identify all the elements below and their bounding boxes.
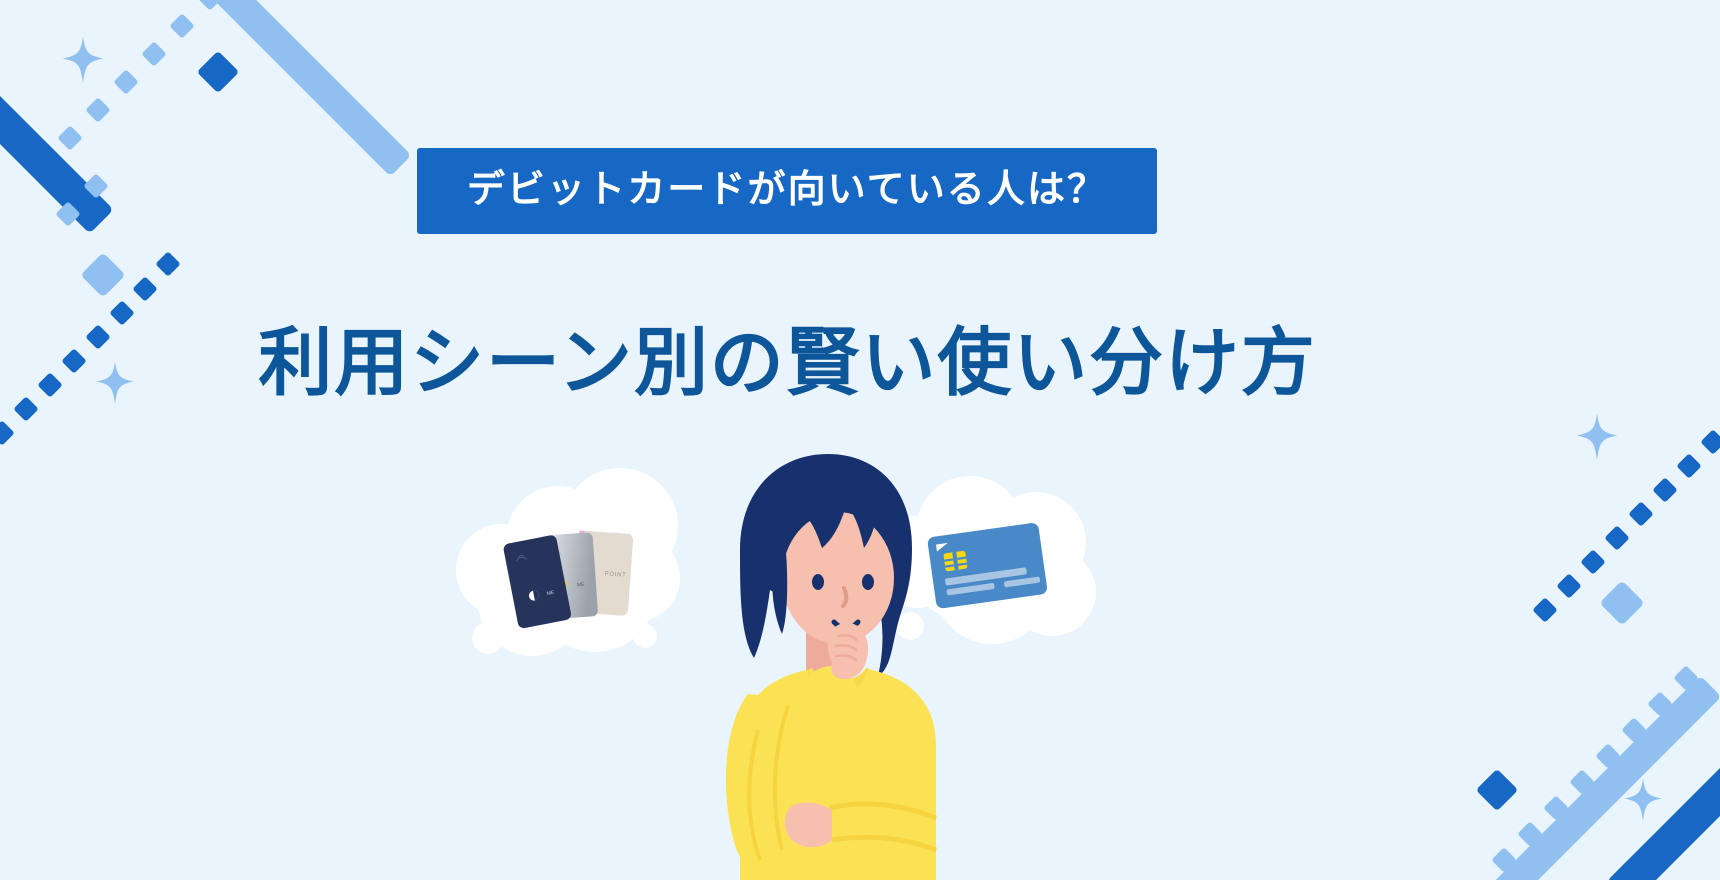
- sparkle-icon: [1624, 778, 1661, 821]
- svg-text:ME: ME: [577, 582, 586, 589]
- deco-diamond-accent: [197, 51, 239, 93]
- sparkle-icon: [1577, 414, 1618, 461]
- deco-diamond-accent: [1476, 769, 1518, 811]
- hair-side: [772, 550, 787, 634]
- card-chip-icon: [943, 551, 967, 572]
- deco-right-light-diamond-trail: [1491, 665, 1698, 872]
- deco-diamond-accent-light: [1599, 580, 1644, 625]
- deco-diamond-accent-light: [80, 252, 125, 297]
- deco-right-dark-diamond-trail: [1532, 429, 1720, 622]
- credit-cards-thought-bubble: POINT ME: [456, 468, 680, 656]
- deco-top-left-stripes: [0, 0, 412, 234]
- deco-top-left-light-diamond-trail: [55, 0, 222, 227]
- eye-left: [812, 574, 824, 590]
- hero-banner: デビットカードが向いている人は？ 利用シーン別の賢い使い分け方: [0, 0, 1720, 880]
- deco-bottom-right-stripes: [1318, 648, 1720, 880]
- hand: [828, 623, 868, 679]
- eye-right: [862, 574, 874, 590]
- sparkle-icon: [63, 37, 104, 84]
- eyebrow-badge: デビットカードが向いている人は？: [417, 148, 1157, 234]
- thinking-woman-illustration: [726, 454, 936, 880]
- badge-label: デビットカードが向いている人は？: [467, 171, 1107, 209]
- page-title: 利用シーン別の賢い使い分け方: [0, 322, 1575, 405]
- hero-illustration: POINT ME: [440, 430, 1140, 880]
